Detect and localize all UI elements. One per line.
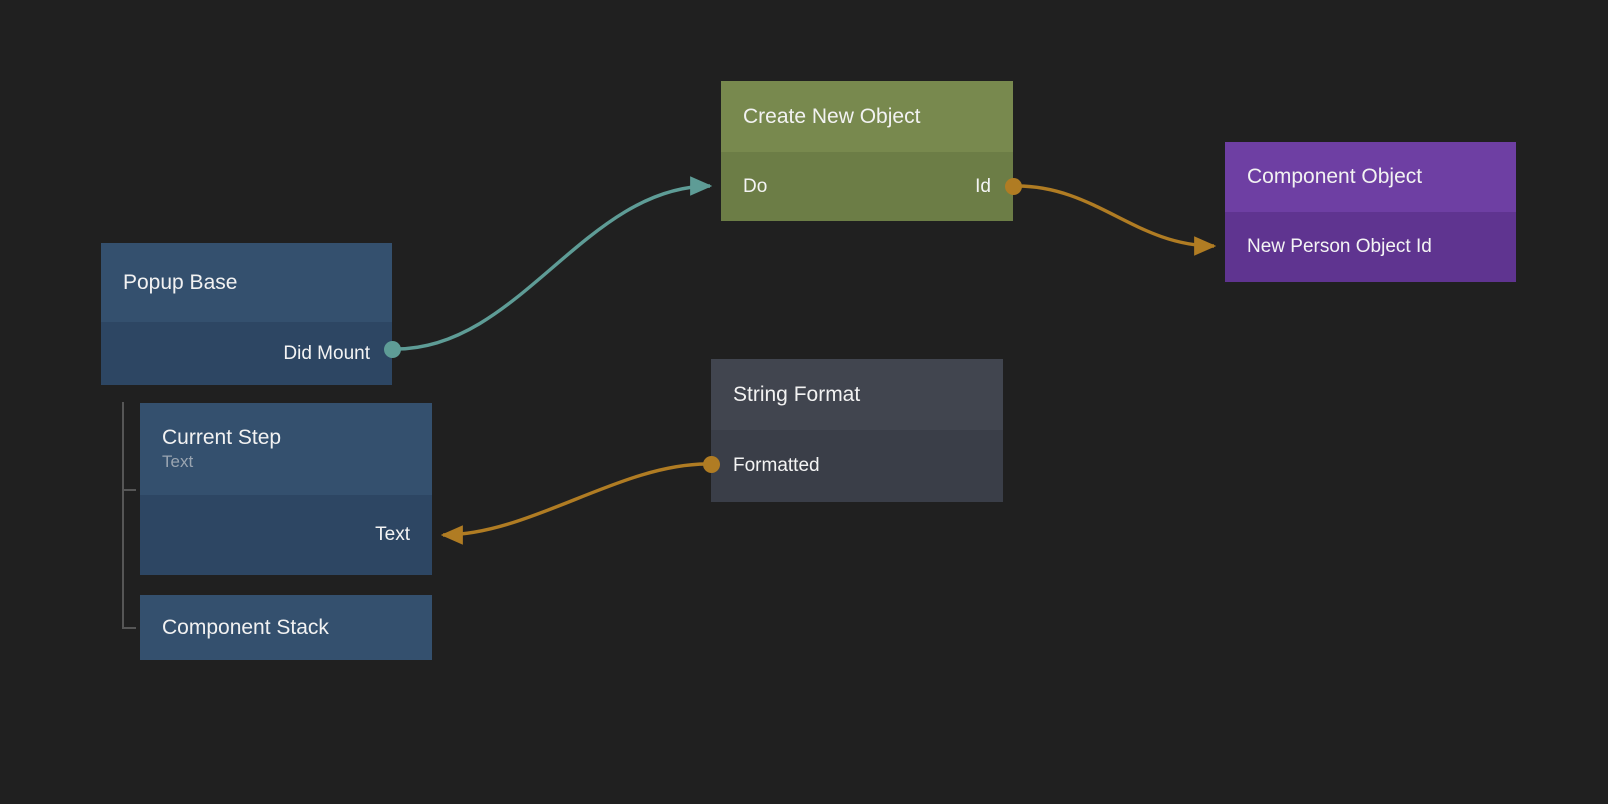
tree-line-branch-current-step <box>122 489 136 491</box>
port-dot-formatted[interactable] <box>703 456 720 473</box>
node-current-step-body: Text <box>140 495 432 575</box>
node-current-step[interactable]: Current Step Text Text <box>140 403 432 575</box>
node-current-step-title: Current Step <box>162 426 410 450</box>
port-row: Text <box>162 524 410 546</box>
port-row: Do Id <box>743 176 991 198</box>
node-component-object-header: Component Object <box>1225 142 1516 212</box>
node-popup-base[interactable]: Popup Base Did Mount <box>101 243 392 385</box>
node-current-step-header: Current Step Text <box>140 403 432 495</box>
edge-did-mount-to-do <box>396 186 710 349</box>
node-string-format-body: Formatted <box>711 430 1003 502</box>
node-popup-base-body: Did Mount <box>101 322 392 385</box>
port-out-formatted-label[interactable]: Formatted <box>733 455 820 477</box>
port-in-new-person-object-id-label[interactable]: New Person Object Id <box>1247 236 1432 258</box>
port-in-do-label[interactable]: Do <box>743 176 767 198</box>
node-graph-canvas[interactable]: Popup Base Did Mount Current Step Text T… <box>0 0 1608 804</box>
node-create-new-object-title: Create New Object <box>743 105 991 129</box>
edge-formatted-to-text <box>443 464 707 535</box>
port-in-text-label[interactable]: Text <box>375 524 410 546</box>
port-out-id-label[interactable]: Id <box>975 176 991 198</box>
node-create-new-object-body: Do Id <box>721 152 1013 221</box>
port-dot-did-mount[interactable] <box>384 341 401 358</box>
port-dot-id[interactable] <box>1005 178 1022 195</box>
edge-id-to-new-person-object-id <box>1017 186 1214 246</box>
node-component-object-body: New Person Object Id <box>1225 212 1516 282</box>
node-component-stack-header: Component Stack <box>140 595 432 660</box>
node-create-new-object-header: Create New Object <box>721 81 1013 152</box>
node-string-format-header: String Format <box>711 359 1003 430</box>
node-string-format[interactable]: String Format Formatted <box>711 359 1003 502</box>
tree-line-branch-component-stack <box>122 627 136 629</box>
node-popup-base-title: Popup Base <box>123 271 370 295</box>
node-current-step-subtitle: Text <box>162 452 410 472</box>
node-component-object-title: Component Object <box>1247 165 1494 189</box>
tree-line-vertical <box>122 402 124 629</box>
node-string-format-title: String Format <box>733 383 981 407</box>
port-row: Formatted <box>733 455 981 477</box>
node-component-object[interactable]: Component Object New Person Object Id <box>1225 142 1516 282</box>
port-out-did-mount-label[interactable]: Did Mount <box>283 343 370 365</box>
node-component-stack[interactable]: Component Stack <box>140 595 432 660</box>
node-popup-base-header: Popup Base <box>101 243 392 322</box>
port-row: New Person Object Id <box>1247 236 1494 258</box>
port-row: Did Mount <box>123 343 370 365</box>
node-component-stack-title: Component Stack <box>162 616 410 640</box>
node-create-new-object[interactable]: Create New Object Do Id <box>721 81 1013 221</box>
